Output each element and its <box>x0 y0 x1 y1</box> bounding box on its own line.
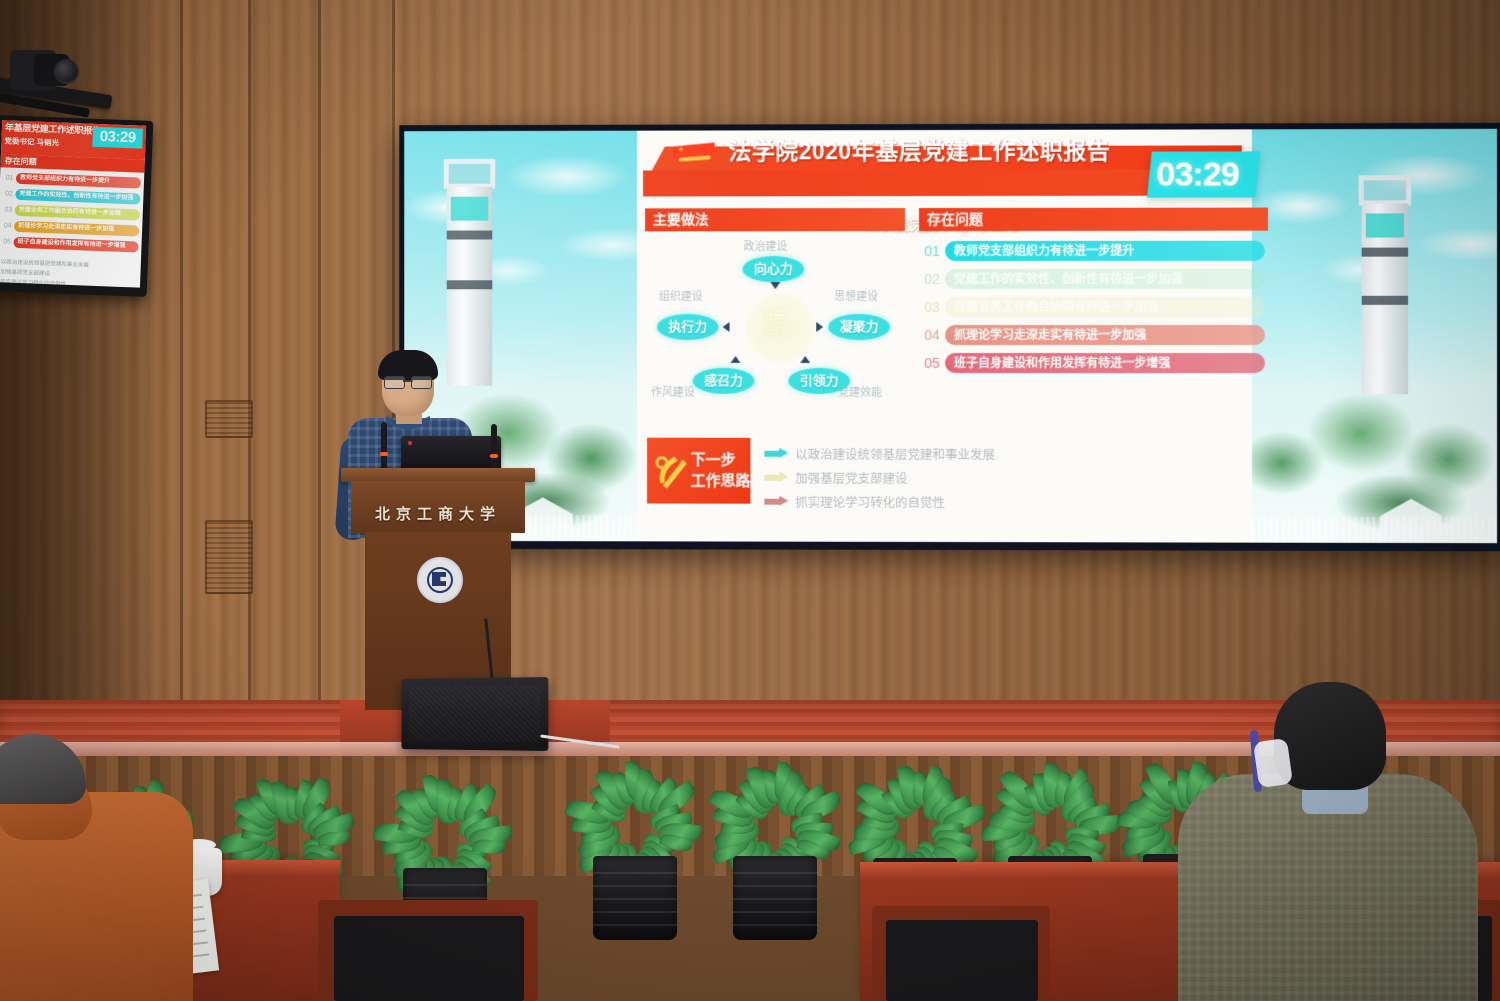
monitor-row-number: 02 <box>2 190 15 197</box>
monitor-row: 02党建工作的实效性、创新性有待进一步加强 <box>2 187 140 205</box>
problem-text: 班子自身建设和作用发挥有待进一步增强 <box>945 352 1265 372</box>
five-forces-diagram: 五要 五力 政治建设 向心力 组织建设 执行力 思想建设 凝聚力 作风建设 感召… <box>645 236 902 421</box>
confidence-monitor: 年基层党建工作述职报告 党委书记 马韬光 03:29 存在问题 01教师党支部组… <box>0 115 153 297</box>
clock-tower-band <box>447 231 493 240</box>
diagram-bubble-3: 感召力 <box>693 368 755 394</box>
flag-star-icon: ★ <box>678 147 684 154</box>
clock-tower-band <box>1362 296 1408 305</box>
clock-tower-top <box>1359 175 1411 205</box>
next-steps-line1: 下一步 <box>691 450 751 471</box>
plant-leaf <box>318 831 351 846</box>
monitor-problem-list: 01教师党支部组织力有待进一步提升02党建工作的实效性、创新性有待进一步加强03… <box>0 167 144 253</box>
diagram-label-0: 政治建设 <box>743 238 787 254</box>
arrow-icon <box>764 471 790 482</box>
problem-text: 抓理论学习走深走实有待进一步加强 <box>945 324 1265 344</box>
monitor-title-bar: 年基层党建工作述职报告 党委书记 马韬光 03:29 <box>1 120 146 160</box>
mic-indicator-light <box>380 452 388 456</box>
arrow-icon <box>764 447 790 458</box>
diagram-bubble-0: 向心力 <box>742 256 804 282</box>
problem-number: 03 <box>919 299 945 315</box>
diagram-bubble-4: 引领力 <box>788 368 850 394</box>
monitor-footer: 以政治建设统领基层党建和事业发展加强基层党支部建设抓实理论学习转化的自觉性 <box>0 251 141 288</box>
section-header-main-practices: 主要做法 <box>645 208 905 231</box>
campus-photo-right <box>1252 129 1497 543</box>
monitor-row-text: 班子自身建设和作用发挥有待进一步增强 <box>13 237 138 253</box>
monitor-title: 年基层党建工作述职报告 <box>5 120 101 137</box>
section-header-problems: 存在问题 <box>919 208 1268 231</box>
wall-seam <box>318 0 321 770</box>
ptz-camera <box>0 28 120 128</box>
potted-plant <box>700 740 850 940</box>
screenshot-root: 年基层党建工作述职报告 党委书记 马韬光 03:29 存在问题 01教师党支部组… <box>0 0 1500 1001</box>
glasses-lens-left <box>384 376 405 389</box>
problem-list: 01教师党支部组织力有待进一步提升02党建工作的实效性、创新性有待进一步加强03… <box>919 240 1265 380</box>
audience-member-left <box>0 742 203 1001</box>
clock-tower-clock-face <box>451 197 489 221</box>
diagram-bubble-2: 凝聚力 <box>828 314 890 340</box>
led-screen-surface: ★ 法学院2020年基层党建工作述职报告 法学院党委书记 马韬光 03:29 主… <box>404 129 1497 543</box>
wall-vent <box>205 520 253 594</box>
problem-number: 01 <box>919 243 945 259</box>
problem-row: 02党建工作的实效性、创新性有待进一步加强 <box>919 268 1265 289</box>
monitor-row-text: 党建业务工作融合协同有待进一步加强 <box>15 205 140 221</box>
wall-seam <box>180 0 183 770</box>
campus-fence <box>1252 517 1497 544</box>
next-step-text: 加强基层党支部建设 <box>790 467 907 486</box>
next-steps-list: 以政治建设统领基层党建和事业发展加强基层党支部建设抓实理论学习转化的自觉性 <box>637 129 1252 130</box>
next-step-text: 抓实理论学习转化的自觉性 <box>790 491 945 510</box>
face-mask-icon <box>1253 738 1293 788</box>
problem-row: 01教师党支部组织力有待进一步提升 <box>919 240 1265 261</box>
plant-pot <box>733 856 817 940</box>
lectern-top <box>341 468 535 482</box>
next-step-row: 加强基层党支部建设 <box>764 466 907 488</box>
monitor-row-number: 04 <box>1 222 14 229</box>
monitor-row: 03党建业务工作融合协同有待进一步加强 <box>2 203 140 221</box>
monitor-row-number: 05 <box>0 238 13 245</box>
diagram-arrow-right <box>816 322 823 332</box>
led-display-screen: ★ 法学院2020年基层党建工作述职报告 法学院党委书记 马韬光 03:29 主… <box>399 123 1500 551</box>
problem-text: 党建工作的实效性、创新性有待进一步加强 <box>945 268 1265 288</box>
monitor-row: 04抓理论学习走深走实有待进一步加强 <box>1 219 139 237</box>
countdown-timer-value: 03:29 <box>1145 154 1250 194</box>
glasses-lens-right <box>411 376 432 389</box>
problem-row: 05班子自身建设和作用发挥有待进一步增强 <box>919 352 1265 373</box>
problem-number: 02 <box>919 271 945 287</box>
diagram-arrow-bottom-right <box>800 356 810 363</box>
lectern-university-name: 北京工商大学 <box>351 503 525 524</box>
chair-left-seat <box>334 916 524 1001</box>
next-steps-line2: 工作思路 <box>691 471 751 492</box>
monitor-row: 05班子自身建设和作用发挥有待进一步增强 <box>0 235 138 253</box>
presenter-laptop <box>401 436 501 470</box>
chair-mid-seat <box>886 920 1038 1001</box>
potted-plant <box>560 740 710 940</box>
camera-lens-icon <box>34 54 70 86</box>
presentation-slide: ★ 法学院2020年基层党建工作述职报告 法学院党委书记 马韬光 03:29 主… <box>404 129 1497 543</box>
stage-monitor-speaker <box>401 677 548 751</box>
monitor-subtitle: 党委书记 马韬光 <box>4 135 59 148</box>
next-steps-badge: 下一步 工作思路 <box>647 438 750 504</box>
problem-number: 05 <box>919 354 945 370</box>
problem-text: 党建业务工作融合协同有待进一步加强 <box>945 296 1265 316</box>
problem-number: 04 <box>919 327 945 343</box>
clock-tower-band <box>447 280 493 289</box>
monitor-timer: 03:29 <box>92 127 143 149</box>
next-step-text: 以政治建设统领基层党建和事业发展 <box>790 443 995 462</box>
flag-pole <box>679 155 711 161</box>
glasses-icon <box>384 376 432 387</box>
monitor-row-number: 03 <box>2 206 15 213</box>
audience-left-hair <box>0 734 86 804</box>
monitor-row-text: 党建工作的实效性、创新性有待进一步加强 <box>15 189 140 205</box>
problem-row: 03党建业务工作融合协同有待进一步加强 <box>919 296 1265 317</box>
diagram-label-2: 思想建设 <box>834 288 878 304</box>
clock-tower-band <box>1362 248 1408 257</box>
wall-seam <box>248 0 251 770</box>
lectern: 北京工商大学 <box>341 468 535 710</box>
plant-pot <box>593 856 677 940</box>
wall-vent <box>205 400 253 438</box>
clock-tower-top <box>444 159 495 189</box>
campus-trees <box>1252 344 1497 543</box>
party-emblem-icon <box>653 450 693 492</box>
next-step-row: 以政治建设统领基层党建和事业发展 <box>764 442 995 464</box>
diagram-arrow-bottom-left <box>731 356 741 363</box>
clock-tower-clock-face <box>1366 213 1404 237</box>
monitor-row-number: 01 <box>3 174 16 181</box>
next-steps-text: 下一步 工作思路 <box>691 450 751 492</box>
diagram-arrow-left <box>723 322 730 332</box>
monitor-screen: 年基层党建工作述职报告 党委书记 马韬光 03:29 存在问题 01教师党支部组… <box>0 120 146 287</box>
next-step-row: 抓实理论学习转化的自觉性 <box>764 490 945 512</box>
university-emblem-icon <box>417 557 463 603</box>
mic-indicator-light <box>490 454 498 458</box>
problem-row: 04抓理论学习走深走实有待进一步加强 <box>919 324 1265 345</box>
diagram-arrow-top <box>770 282 780 289</box>
slide-title: 法学院2020年基层党建工作述职报告 <box>729 132 1111 167</box>
slide-content-area: ★ 法学院2020年基层党建工作述职报告 法学院党委书记 马韬光 03:29 主… <box>637 129 1252 542</box>
audience-member-right <box>1178 682 1478 1001</box>
diagram-label-1: 组织建设 <box>659 288 703 304</box>
laptop-indicator-light <box>408 441 412 445</box>
diagram-bubble-1: 执行力 <box>657 314 719 340</box>
emblem-mark <box>432 572 446 586</box>
diagram-label-3: 作风建设 <box>651 384 695 400</box>
china-flag-icon: ★ <box>673 142 719 168</box>
arrow-icon <box>764 495 790 506</box>
monitor-row-text: 教师党支部组织力有待进一步提升 <box>16 173 141 189</box>
lectern-face: 北京工商大学 <box>351 481 525 533</box>
monitor-row-text: 抓理论学习走深走实有待进一步加强 <box>14 221 139 237</box>
problem-text: 教师党支部组织力有待进一步提升 <box>945 240 1265 260</box>
monitor-row: 01教师党支部组织力有待进一步提升 <box>3 171 141 189</box>
